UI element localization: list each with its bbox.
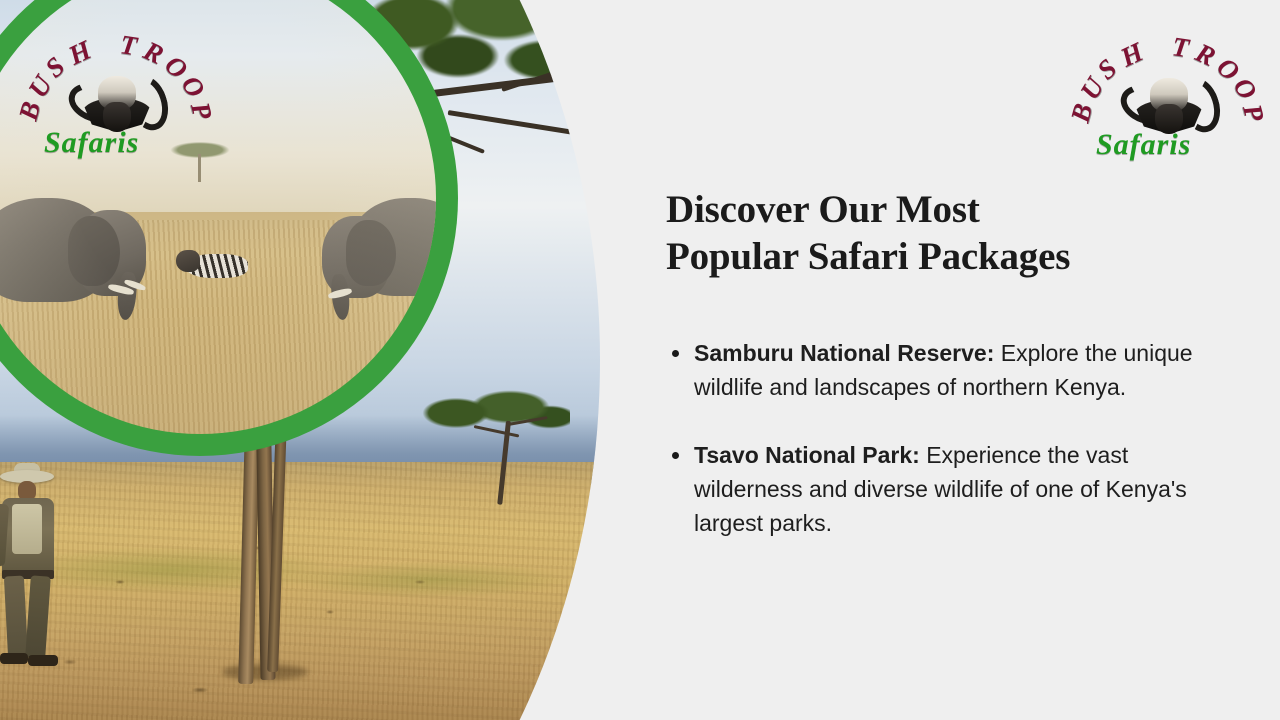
safari-guide-figure [0,470,76,682]
brand-name-letter: T [118,29,139,62]
brand-tagline: Safaris [44,126,194,160]
presentation-slide: BUSHTROOP Safaris BUSHTROOP Safaris Disc… [0,0,1280,720]
bullet-dot-icon [672,350,679,357]
brand-name-letter: T [1170,31,1191,64]
guide-boot [0,653,28,664]
brand-name-letter: H [1116,36,1148,73]
brand-logo-right[interactable]: BUSHTROOP Safaris [1078,20,1258,170]
page-title-line-2: Popular Safari Packages [666,235,1070,278]
page-title: Discover Our Most Popular Safari Package… [666,186,1226,280]
brand-name-letter: P [1237,101,1271,125]
brand-logo-left[interactable]: BUSHTROOP Safaris [26,18,206,168]
page-title-line-1: Discover Our Most [666,188,980,231]
acacia-branch [448,110,597,138]
list-item: Tsavo National Park: Experience the vast… [666,438,1226,540]
slide-content: Discover Our Most Popular Safari Package… [666,186,1226,574]
package-list: Samburu National Reserve: Explore the un… [666,336,1226,540]
guide-leg [25,575,51,658]
brand-tagline: Safaris [1096,128,1246,162]
guide-leg [4,576,28,659]
brand-name-letter: H [64,34,96,71]
brand-name-letter: B [1064,100,1099,125]
list-item-lead: Samburu National Reserve: [694,340,994,366]
guide-vest [12,504,42,554]
list-item: Samburu National Reserve: Explore the un… [666,336,1226,404]
bullet-dot-icon [672,452,679,459]
list-item-lead: Tsavo National Park: [694,442,920,468]
guide-boot [28,655,58,666]
